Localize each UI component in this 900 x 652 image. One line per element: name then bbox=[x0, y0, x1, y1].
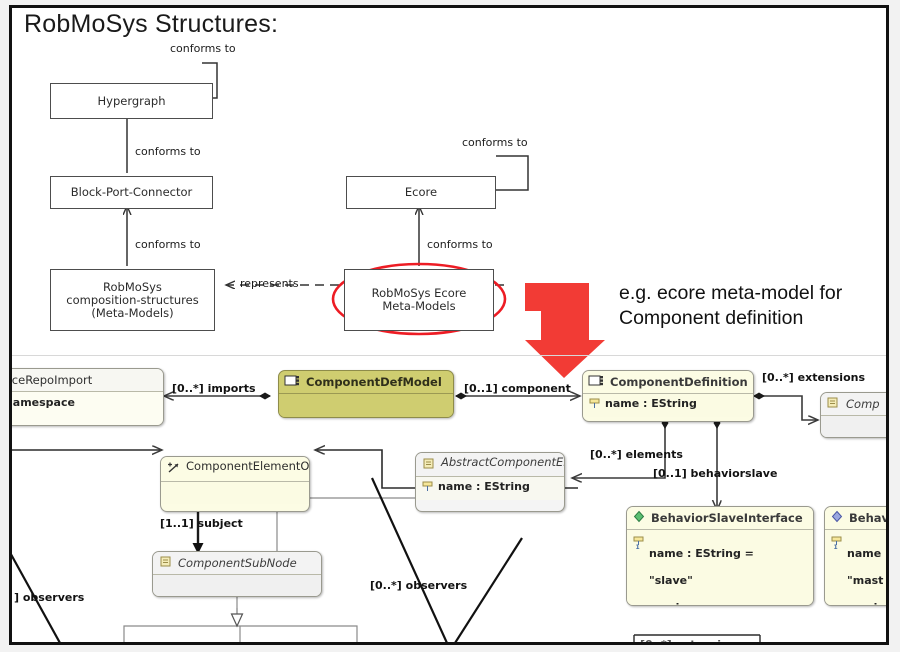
annotation-text: e.g. ecore meta-model for Component defi… bbox=[619, 281, 889, 331]
concept-box-ecore-label: Ecore bbox=[405, 186, 437, 199]
assoc-label-elements: [0..*] elements bbox=[590, 448, 683, 461]
concept-box-hypergraph-label: Hypergraph bbox=[97, 95, 165, 108]
eabstract-icon bbox=[421, 457, 436, 473]
concept-box-robmosys-ecore-meta-models: RobMoSys Ecore Meta-Models bbox=[344, 269, 494, 331]
concept-box-ecore: Ecore bbox=[346, 176, 496, 209]
concept-box-hypergraph: Hypergraph bbox=[50, 83, 213, 119]
uml-attribute: 1 name : EString = "slave" service : bbox=[632, 533, 808, 606]
edge-label-ecore-self: conforms to bbox=[462, 136, 528, 149]
concept-box-robmosys-composition-structures-label: RobMoSys composition-structures (Meta-Mo… bbox=[66, 281, 198, 320]
assoc-label-observers-right: [0..*] observers bbox=[370, 579, 467, 592]
uml-class-name: ComponentDefinition bbox=[610, 375, 748, 389]
uml-class-abstract-component-element[interactable]: AbstractComponentElement name : EString bbox=[415, 452, 565, 512]
eattribute-icon bbox=[588, 397, 601, 414]
eclass-icon bbox=[588, 374, 605, 390]
uml-attribute: ortedNamespace bbox=[9, 396, 158, 410]
uml-attribute-text: name : EString bbox=[438, 480, 530, 494]
uml-attribute-text: "mast bbox=[847, 574, 883, 587]
uml-class-body: name : EString bbox=[583, 393, 753, 417]
uml-class-body bbox=[153, 574, 321, 597]
assoc-label-observers-left: ] observers bbox=[14, 591, 84, 604]
uml-class-name: ComponentElementObserver bbox=[186, 460, 310, 473]
uml-class-body: ortedNamespace tring bbox=[9, 391, 163, 426]
uml-class-service-repo-import[interactable]: erviceRepoImport ortedNamespace tring bbox=[9, 368, 164, 426]
uml-attribute-text: name : EString bbox=[605, 397, 697, 411]
uml-class-name: Behavi bbox=[849, 511, 889, 525]
uml-attribute-text: name : EString = bbox=[649, 547, 754, 560]
uml-class-header: ComponentSubNode bbox=[153, 552, 321, 574]
uml-class-body bbox=[161, 481, 309, 504]
uml-attribute-text: servi bbox=[847, 601, 877, 607]
uml-class-component-definition[interactable]: ComponentDefinition name : EString bbox=[582, 370, 754, 422]
assoc-label-extensions: [0..*] extensions bbox=[762, 371, 865, 384]
edge-label-represents: represents bbox=[240, 277, 299, 290]
eattribute-icon: 1 bbox=[632, 535, 645, 554]
uml-class-name: BehaviorSlaveInterface bbox=[651, 511, 803, 525]
uml-class-header: erviceRepoImport bbox=[9, 369, 163, 391]
uml-class-header: Behavi bbox=[825, 507, 889, 529]
assoc-label-behaviorslave: [0..1] behaviorslave bbox=[653, 467, 777, 480]
edge-label-rmsecore-to-ecore: conforms to bbox=[427, 238, 493, 251]
uml-class-header: ComponentDefModel bbox=[279, 371, 453, 393]
eattribute-icon bbox=[421, 480, 434, 497]
uml-class-component-extension[interactable]: Comp bbox=[820, 392, 889, 438]
assoc-label-component: [0..1] component bbox=[464, 382, 571, 395]
uml-class-header: Comp bbox=[821, 393, 889, 415]
concept-box-robmosys-ecore-meta-models-label: RobMoSys Ecore Meta-Models bbox=[372, 287, 467, 313]
uml-attribute: name : EString bbox=[588, 397, 748, 414]
concept-box-robmosys-composition-structures: RobMoSys composition-structures (Meta-Mo… bbox=[50, 269, 215, 331]
uml-class-behavior-slave-interface[interactable]: BehaviorSlaveInterface 1 name : EString … bbox=[626, 506, 814, 606]
edge-label-hypergraph-self: conforms to bbox=[170, 42, 236, 55]
uml-class-header: ComponentElementObserver bbox=[161, 457, 309, 481]
concept-box-block-port-connector-label: Block-Port-Connector bbox=[71, 186, 193, 199]
uml-attribute-text: ortedNamespace bbox=[9, 396, 75, 410]
uml-attribute-text: service : bbox=[649, 601, 702, 607]
uml-class-header: AbstractComponentElement bbox=[416, 453, 564, 476]
uml-class-name: AbstractComponentElement bbox=[441, 456, 565, 469]
eabstract-icon bbox=[158, 555, 173, 571]
eattribute-icon: 1 bbox=[830, 535, 843, 554]
eenum-icon bbox=[632, 510, 646, 526]
assoc-label-imports: [0..*] imports bbox=[172, 382, 256, 395]
uml-class-body: 1 name "mast servi 1 Coord efiniti bbox=[825, 529, 889, 606]
slide-frame: RobMoSys Structures: Hypergraph Block-Po… bbox=[9, 5, 889, 645]
screenshot-canvas: RobMoSys Structures: Hypergraph Block-Po… bbox=[0, 0, 900, 652]
uml-class-body: 1 name : EString = "slave" service : 1 C… bbox=[627, 529, 813, 606]
uml-class-body bbox=[821, 415, 889, 438]
uml-class-body bbox=[279, 393, 453, 418]
concept-box-block-port-connector: Block-Port-Connector bbox=[50, 176, 213, 209]
uml-class-name: erviceRepoImport bbox=[9, 373, 92, 387]
uml-attribute: name : EString bbox=[421, 480, 559, 497]
svg-text:1: 1 bbox=[636, 544, 640, 550]
edge-label-rms-to-bpc: conforms to bbox=[135, 238, 201, 251]
svg-text:1: 1 bbox=[834, 544, 838, 550]
annotation-line-1: e.g. ecore meta-model for bbox=[619, 281, 889, 306]
uml-class-body: name : EString bbox=[416, 476, 564, 500]
uml-class-name: ComponentDefModel bbox=[306, 375, 442, 389]
uml-class-header: ComponentDefinition bbox=[583, 371, 753, 393]
eabstract-icon bbox=[826, 396, 841, 412]
uml-class-name: ComponentSubNode bbox=[178, 556, 297, 570]
edge-label-bpc-to-hypergraph: conforms to bbox=[135, 145, 201, 158]
uml-class-component-sub-node[interactable]: ComponentSubNode bbox=[152, 551, 322, 597]
uml-class-name: Comp bbox=[846, 397, 880, 411]
uml-attribute: 1 name "mast servi bbox=[830, 533, 889, 606]
uml-class-header: BehaviorSlaveInterface bbox=[627, 507, 813, 529]
section-divider bbox=[12, 355, 889, 356]
eclass-icon bbox=[284, 374, 301, 390]
uml-attribute-text: name bbox=[847, 547, 881, 560]
assoc-label-subject: [1..1] subject bbox=[160, 517, 243, 530]
annotation-line-2: Component definition bbox=[619, 306, 889, 331]
uml-attribute: tring bbox=[9, 410, 158, 424]
einterface-icon bbox=[166, 461, 181, 478]
uml-class-behavior-master-interface[interactable]: Behavi 1 name "mast servi 1 Coord ef bbox=[824, 506, 889, 606]
uml-class-component-def-model[interactable]: ComponentDefModel bbox=[278, 370, 454, 418]
eenum-icon bbox=[830, 510, 844, 526]
uml-attribute-text: "slave" bbox=[649, 574, 693, 587]
uml-class-component-element-observer[interactable]: ComponentElementObserver bbox=[160, 456, 310, 512]
assoc-label-extensions-bottom: [0..*] extensions bbox=[640, 638, 743, 645]
